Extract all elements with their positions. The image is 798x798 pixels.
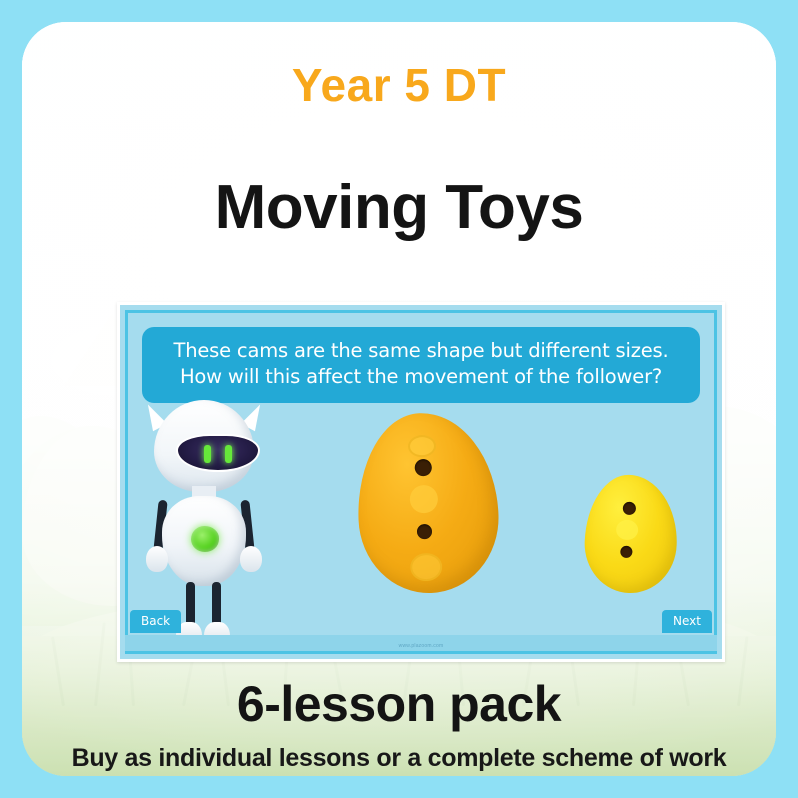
pack-label: 6-lesson pack xyxy=(22,675,776,733)
robot-hand-right xyxy=(240,546,262,572)
slide-canvas: These cams are the same shape but differ… xyxy=(120,305,722,659)
robot-eye-right xyxy=(225,445,232,463)
cam-hole xyxy=(623,502,636,515)
robot-body xyxy=(162,496,246,586)
card-content: Year 5 DT Moving Toys These cams are the… xyxy=(22,22,776,776)
slide-back-button[interactable]: Back xyxy=(130,610,181,633)
pack-subtitle: Buy as individual lessons or a complete … xyxy=(22,744,776,773)
kicker-subject: Year 5 DT xyxy=(22,58,776,112)
robot-head xyxy=(154,400,254,492)
slide-next-button[interactable]: Next xyxy=(662,610,712,633)
cam-boss xyxy=(409,485,438,514)
robot-core-light xyxy=(191,526,219,552)
cam-hole xyxy=(414,459,432,477)
robot-eye-left xyxy=(204,445,211,463)
cam-hole xyxy=(417,524,433,540)
slide-watermark: www.plazoom.com xyxy=(120,643,722,649)
robot-hand-left xyxy=(146,546,168,572)
cam-boss xyxy=(408,435,437,458)
inner-card: Year 5 DT Moving Toys These cams are the… xyxy=(22,22,776,776)
cam-hole xyxy=(620,546,632,558)
page-title: Moving Toys xyxy=(22,172,776,243)
cam-boss xyxy=(410,553,443,582)
promo-card-frame: Year 5 DT Moving Toys These cams are the… xyxy=(0,0,798,798)
robot-visor xyxy=(176,434,260,472)
slide-preview[interactable]: These cams are the same shape but differ… xyxy=(117,302,725,662)
slide-prompt-text: These cams are the same shape but differ… xyxy=(142,327,700,403)
cam-boss xyxy=(616,519,639,540)
